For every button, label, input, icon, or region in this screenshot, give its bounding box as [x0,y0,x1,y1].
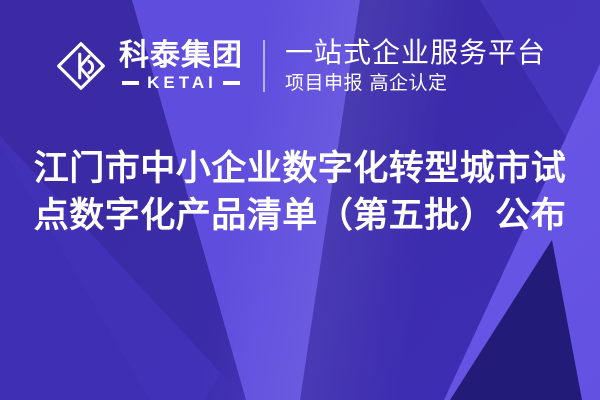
headline-line-1: 江门市中小企业数字化转型城市试 [22,146,578,193]
banner-content: 科泰集团 KETAI 一站式企业服务平台 项目申报 高企认定 江门市中小企业数字… [0,0,600,400]
ketai-diamond-monogram-icon [54,39,108,93]
headline-block: 江门市中小企业数字化转型城市试 点数字化产品清单（第五批）公布 [0,146,600,240]
headline-line-2: 点数字化产品清单（第五批）公布 [22,193,578,240]
brand-logo: 科泰集团 KETAI [54,39,243,93]
wordmark-rule-left [122,81,139,85]
tagline-primary: 一站式企业服务平台 [285,38,546,68]
brand-logo-wordmark: 科泰集团 KETAI [119,41,243,91]
banner-header: 科泰集团 KETAI 一站式企业服务平台 项目申报 高企认定 [0,38,600,94]
promo-banner: 科泰集团 KETAI 一站式企业服务平台 项目申报 高企认定 江门市中小企业数字… [0,0,600,400]
brand-name-en-row: KETAI [119,74,243,91]
brand-name-en: KETAI [145,74,217,91]
tagline-secondary: 项目申报 高企认定 [285,73,546,94]
tagline-block: 一站式企业服务平台 项目申报 高企认定 [285,38,546,94]
brand-name-cn: 科泰集团 [119,41,243,71]
header-divider [263,40,265,92]
wordmark-rule-right [223,81,240,85]
